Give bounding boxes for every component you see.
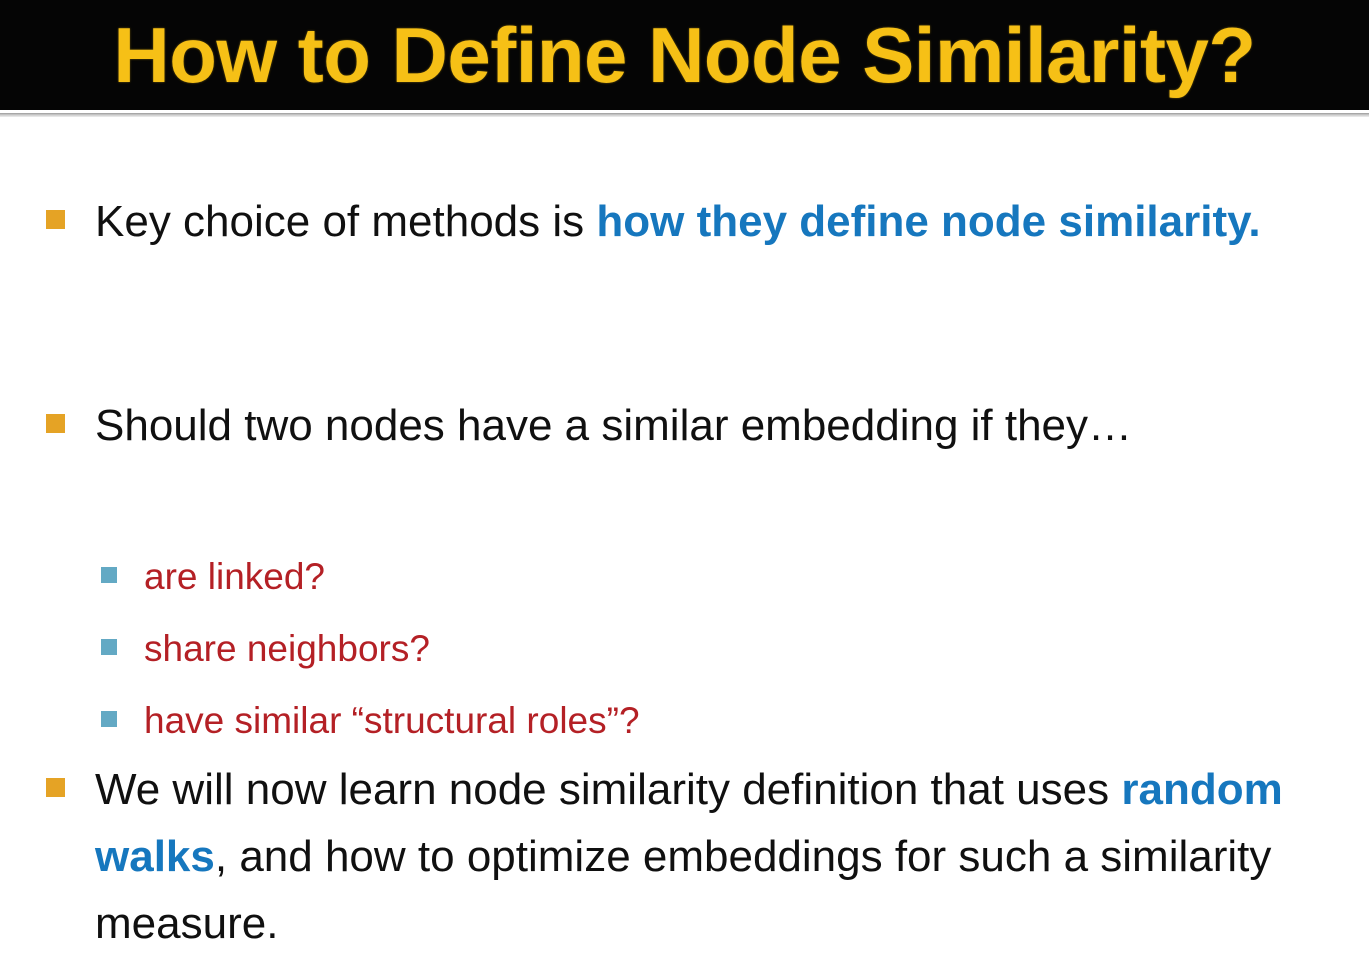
bullet-square-icon	[46, 210, 65, 229]
bullet-3-text: We will now learn node similarity defini…	[0, 757, 1369, 958]
bullet-2-label: Should two nodes have a similar embeddin…	[95, 401, 1132, 450]
bullet-item-3: We will now learn node similarity defini…	[0, 757, 1369, 958]
slide-title-bar: How to Define Node Similarity?	[0, 0, 1369, 110]
sub-bullet-item-3: have similar “structural roles”?	[0, 694, 1369, 748]
slide-body: Key choice of methods is how they define…	[0, 117, 1369, 979]
sub-bullet-1-text: are linked?	[0, 550, 1369, 604]
bullet-square-icon	[46, 414, 65, 433]
bullet-3-plain-1: We will now learn node similarity defini…	[95, 765, 1121, 814]
sub-bullet-1-label: are linked?	[144, 556, 325, 597]
sub-bullet-item-1: are linked?	[0, 550, 1369, 604]
bullet-1-text: Key choice of methods is how they define…	[0, 189, 1369, 256]
bullet-1-emphasis: how they define node similarity.	[596, 197, 1260, 246]
page-title: How to Define Node Similarity?	[113, 16, 1255, 94]
sub-bullet-square-icon	[101, 711, 117, 727]
sub-bullet-2-text: share neighbors?	[0, 622, 1369, 676]
bullet-square-icon	[46, 778, 65, 797]
sub-bullet-3-text: have similar “structural roles”?	[0, 694, 1369, 748]
sub-bullet-item-2: share neighbors?	[0, 622, 1369, 676]
bullet-2-text: Should two nodes have a similar embeddin…	[0, 393, 1369, 460]
sub-bullet-square-icon	[101, 567, 117, 583]
sub-bullet-2-label: share neighbors?	[144, 628, 430, 669]
bullet-3-plain-2: , and how to optimize embeddings for suc…	[95, 832, 1271, 948]
bullet-1-plain: Key choice of methods is	[95, 197, 596, 246]
sub-bullet-3-label: have similar “structural roles”?	[144, 700, 640, 741]
bullet-item-1: Key choice of methods is how they define…	[0, 189, 1369, 256]
sub-bullet-square-icon	[101, 639, 117, 655]
bullet-item-2: Should two nodes have a similar embeddin…	[0, 393, 1369, 460]
